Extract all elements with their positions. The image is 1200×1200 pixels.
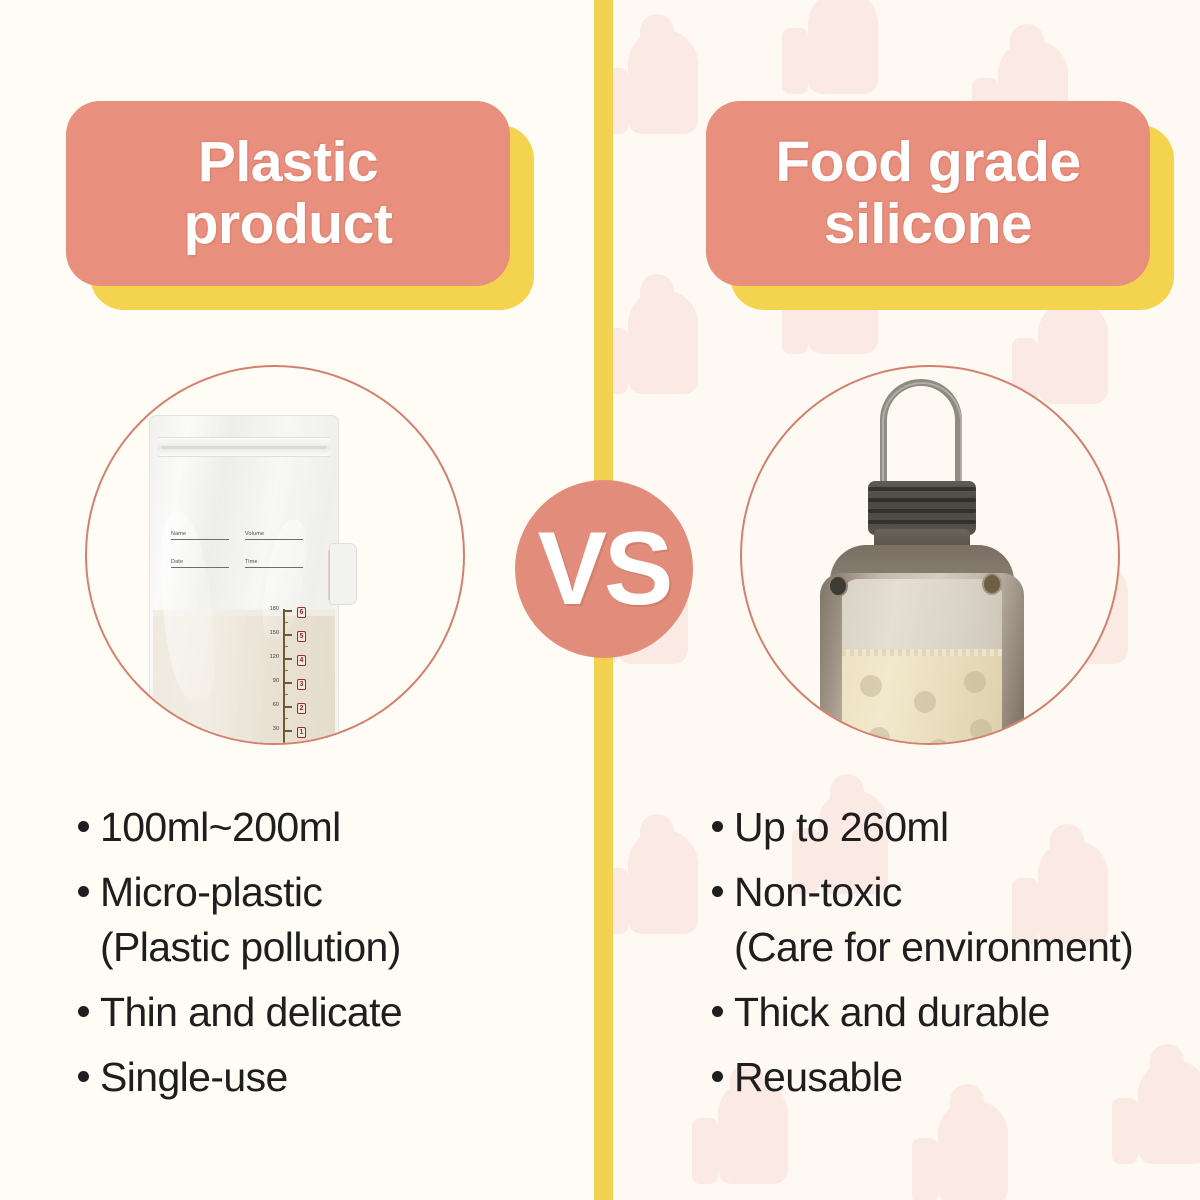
vs-badge: VS (515, 480, 693, 658)
left-banner-title: Plastic product (184, 132, 393, 255)
vs-label: VS (538, 517, 671, 621)
list-item-label: Reusable (734, 1050, 902, 1105)
scale-label: 180 (261, 606, 279, 612)
bag-measurement-scale: 180 6 150 5 120 4 90 3 60 2 (261, 605, 323, 745)
label-field-volume: Volume (245, 531, 264, 537)
bullet-dot-icon (78, 821, 89, 832)
list-item: Single-use (78, 1050, 598, 1105)
bullet-dot-icon (712, 1071, 723, 1082)
right-banner-title: Food grade silicone (775, 132, 1080, 255)
list-item-label: Single-use (100, 1050, 288, 1105)
oz-marker: 2 (297, 703, 306, 714)
scale-label: 60 (261, 702, 279, 708)
list-item: Thick and durable (712, 985, 1198, 1040)
silicone-milk-storage-pouch (802, 377, 1042, 745)
list-item-label: Micro-plastic (Plastic pollution) (100, 865, 401, 975)
list-item: Reusable (712, 1050, 1198, 1105)
side-grommet-left (828, 575, 848, 597)
bullet-dot-icon (712, 1006, 723, 1017)
list-item: Non-toxic (Care for environment) (712, 865, 1198, 975)
label-field-name: Name (171, 531, 186, 537)
threaded-neck (868, 481, 976, 535)
scale-label: 90 (261, 678, 279, 684)
list-item-label: Thin and delicate (100, 985, 402, 1040)
oz-marker: 1 (297, 727, 306, 738)
list-item: Up to 260ml (712, 800, 1198, 855)
oz-marker: 6 (297, 607, 306, 618)
pouch-body (820, 573, 1024, 745)
banner-body: Food grade silicone (706, 101, 1150, 286)
side-grommet-right (982, 573, 1002, 595)
right-header-banner: Food grade silicone (706, 101, 1150, 286)
list-item: 100ml~200ml (78, 800, 598, 855)
list-item-label: Non-toxic (Care for environment) (734, 865, 1133, 975)
bag-zipper-seal (157, 437, 331, 457)
list-item-label: 100ml~200ml (100, 800, 341, 855)
bullet-dot-icon (712, 886, 723, 897)
pouch-milk-fill (842, 653, 1002, 745)
bullet-dot-icon (78, 1006, 89, 1017)
list-item-label: Thick and durable (734, 985, 1050, 1040)
bullet-dot-icon (712, 821, 723, 832)
bag-side-tab (329, 543, 357, 605)
scale-label: 120 (261, 654, 279, 660)
comparison-infographic: Plastic product Food grade silicone Name (0, 0, 1200, 1200)
oz-marker: 4 (297, 655, 306, 666)
metal-loop-handle (880, 379, 962, 497)
left-feature-list: 100ml~200ml Micro-plastic (Plastic pollu… (78, 800, 598, 1115)
oz-marker: 5 (297, 631, 306, 642)
right-product-image (740, 365, 1120, 745)
list-item: Micro-plastic (Plastic pollution) (78, 865, 598, 975)
bag-label-fields: Name Volume Date Time (171, 527, 313, 583)
label-field-time: Time (245, 559, 258, 565)
bullet-dot-icon (78, 1071, 89, 1082)
list-item: Thin and delicate (78, 985, 598, 1040)
label-field-date: Date (171, 559, 183, 565)
scale-label: 150 (261, 630, 279, 636)
right-feature-list: Up to 260ml Non-toxic (Care for environm… (712, 800, 1198, 1115)
pouch-inner-window (842, 579, 1002, 745)
list-item-label: Up to 260ml (734, 800, 948, 855)
left-product-image: Name Volume Date Time (85, 365, 465, 745)
oz-marker: 3 (297, 679, 306, 690)
left-header-banner: Plastic product (66, 101, 510, 286)
bullet-dot-icon (78, 886, 89, 897)
banner-body: Plastic product (66, 101, 510, 286)
scale-label: 30 (261, 726, 279, 732)
plastic-milk-storage-bag: Name Volume Date Time (149, 415, 357, 745)
